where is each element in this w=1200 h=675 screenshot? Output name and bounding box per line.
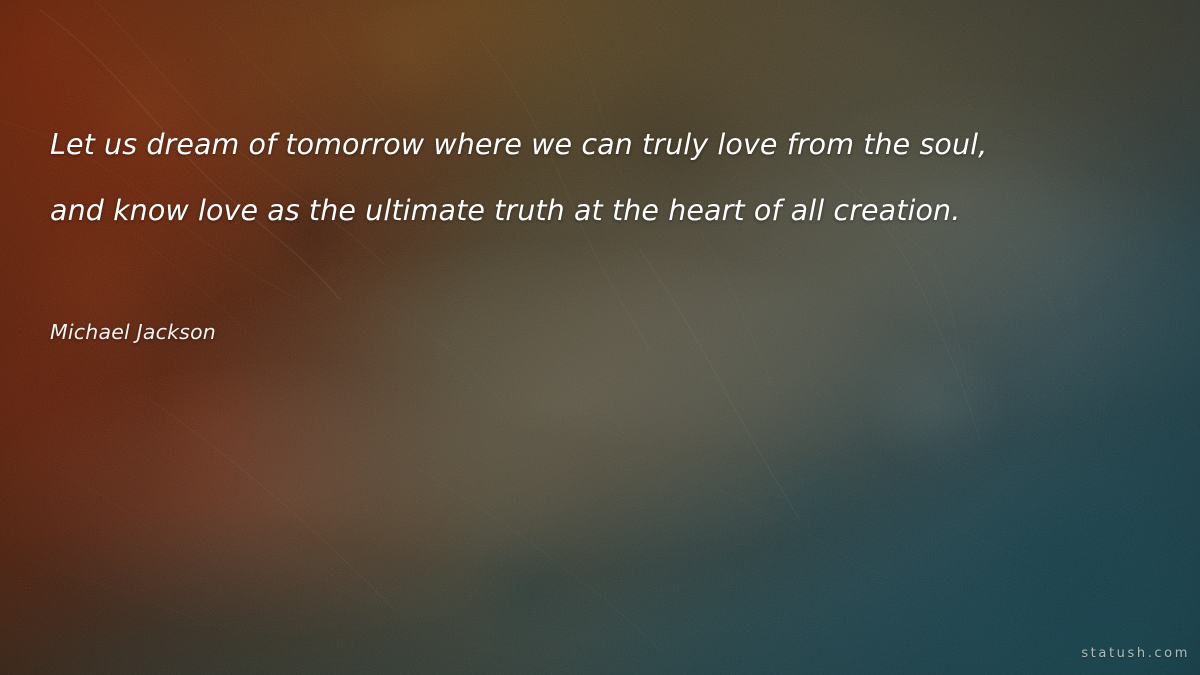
card-content: Let us dream of tomorrow where we can tr… bbox=[0, 0, 1200, 675]
quote-line-2: and know love as the ultimate truth at t… bbox=[50, 178, 1140, 244]
quote-text: Let us dream of tomorrow where we can tr… bbox=[50, 112, 1140, 244]
site-watermark: statush.com bbox=[1081, 646, 1190, 662]
quote-author: Michael Jackson bbox=[50, 319, 216, 345]
quote-line-1: Let us dream of tomorrow where we can tr… bbox=[50, 112, 1140, 178]
quote-card: Let us dream of tomorrow where we can tr… bbox=[0, 0, 1200, 675]
